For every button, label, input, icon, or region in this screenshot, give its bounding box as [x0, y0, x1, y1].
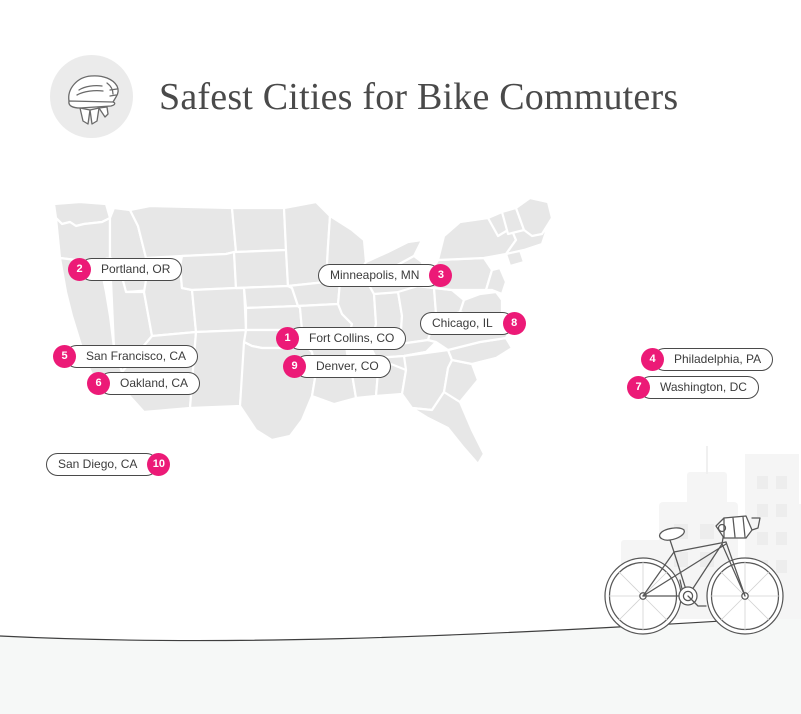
city-marker[interactable]: 8Chicago, IL	[420, 311, 526, 335]
rank-pin[interactable]: 7	[627, 376, 650, 399]
city-label: Denver, CO	[295, 355, 391, 378]
city-marker[interactable]: 5San Francisco, CA	[53, 344, 198, 368]
city-label: San Francisco, CA	[65, 345, 198, 368]
city-label: Minneapolis, MN	[318, 264, 440, 287]
city-marker[interactable]: 2Portland, OR	[68, 257, 182, 281]
city-label: San Diego, CA	[46, 453, 158, 476]
city-marker[interactable]: 1Fort Collins, CO	[276, 326, 406, 350]
rank-pin[interactable]: 10	[147, 453, 170, 476]
infographic-canvas: Safest Cities for Bike Commuters	[0, 0, 801, 714]
city-label: Fort Collins, CO	[288, 327, 406, 350]
city-label: Washington, DC	[639, 376, 759, 399]
city-marker[interactable]: 6Oakland, CA	[87, 371, 200, 395]
rank-pin[interactable]: 8	[503, 312, 526, 335]
rank-pin[interactable]: 4	[641, 348, 664, 371]
city-marker[interactable]: 10San Diego, CA	[46, 452, 170, 476]
rank-pin[interactable]: 6	[87, 372, 110, 395]
city-label: Chicago, IL	[420, 312, 514, 335]
city-marker[interactable]: 7Washington, DC	[627, 375, 759, 399]
city-label: Portland, OR	[80, 258, 182, 281]
city-marker[interactable]: 4Philadelphia, PA	[641, 347, 773, 371]
city-label: Philadelphia, PA	[653, 348, 773, 371]
rank-pin[interactable]: 5	[53, 345, 76, 368]
rank-pin[interactable]: 9	[283, 355, 306, 378]
city-marker[interactable]: 9Denver, CO	[283, 354, 391, 378]
city-label: Oakland, CA	[99, 372, 200, 395]
rank-pin[interactable]: 2	[68, 258, 91, 281]
page-title: Safest Cities for Bike Commuters	[159, 78, 678, 116]
rank-pin[interactable]: 3	[429, 264, 452, 287]
bike-helmet-icon	[50, 55, 133, 138]
rank-pin[interactable]: 1	[276, 327, 299, 350]
page-header: Safest Cities for Bike Commuters	[50, 55, 678, 138]
city-marker[interactable]: 3Minneapolis, MN	[318, 263, 452, 287]
bicycle-scene	[600, 440, 801, 650]
